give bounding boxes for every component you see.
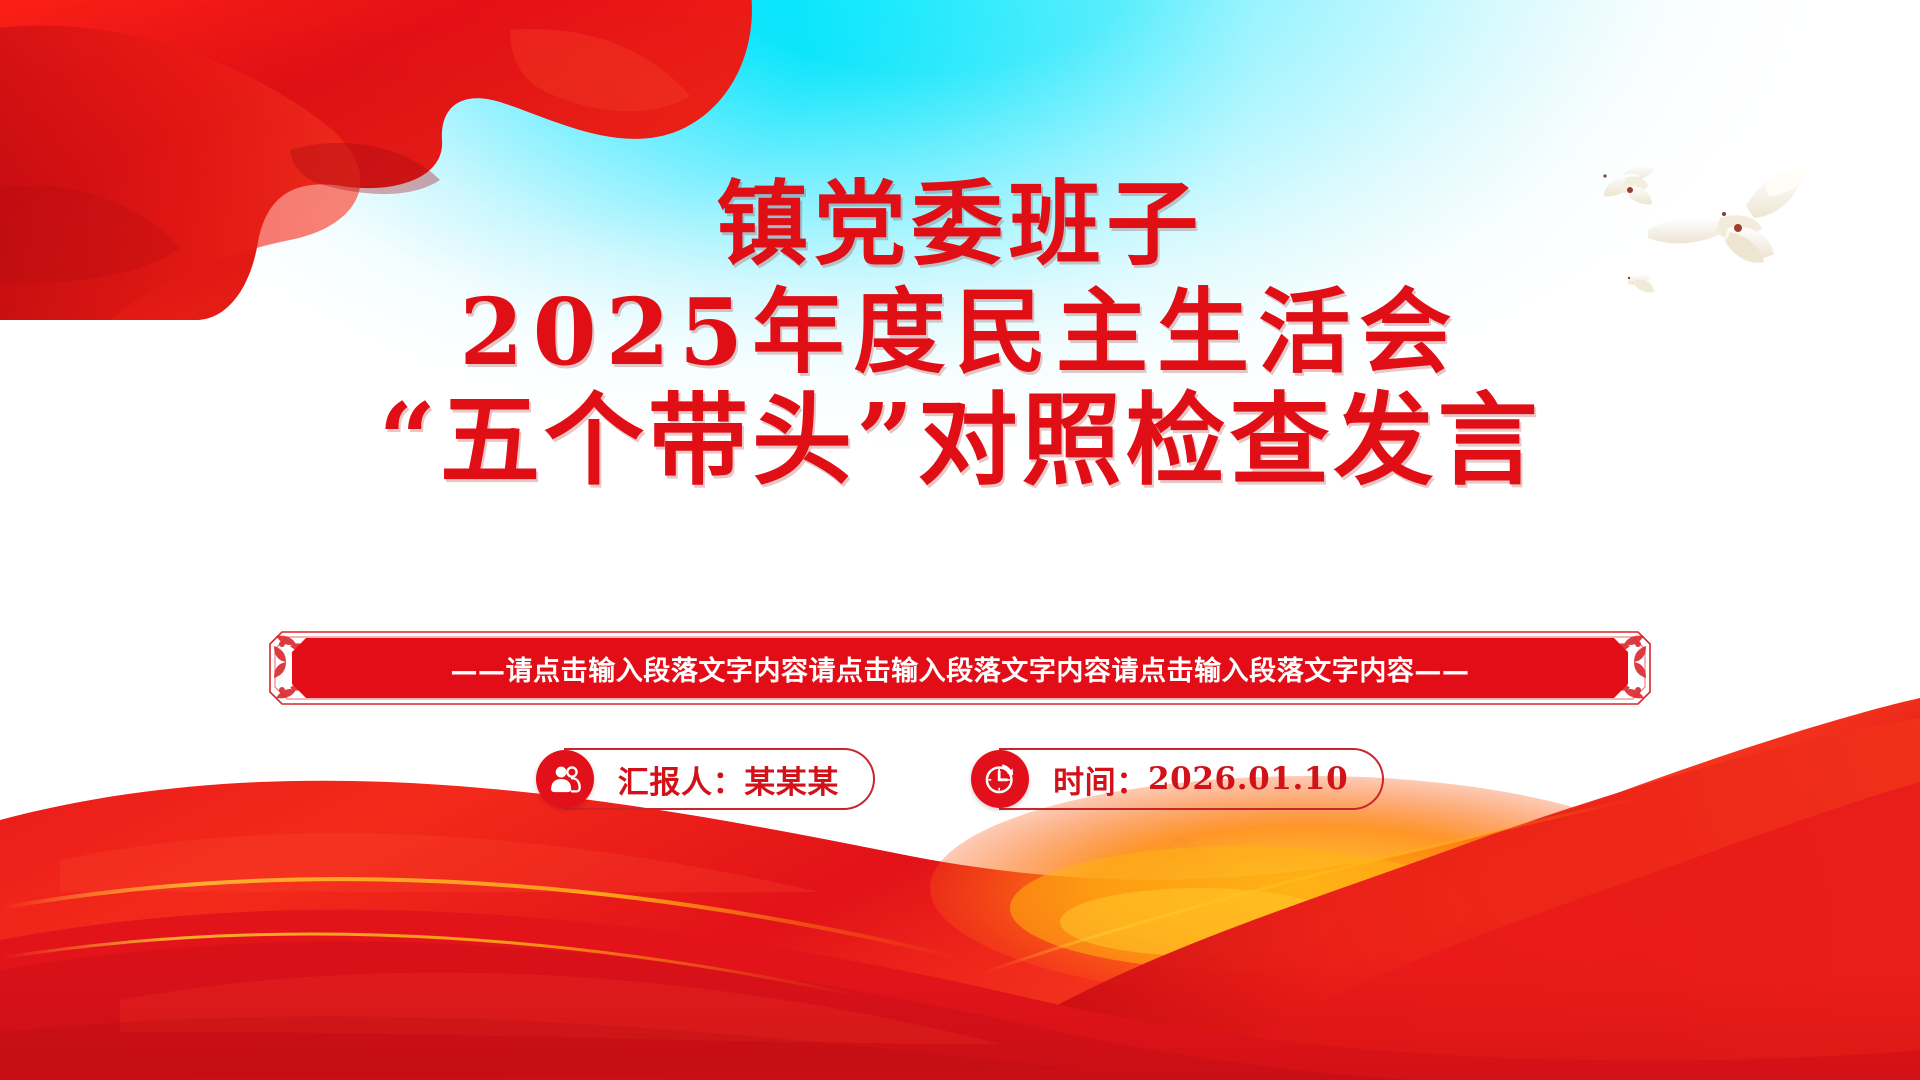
slide-canvas: 镇党委班子 2025年度民主生活会 “五个带头”对照检查发言 [0,0,1920,1080]
presenter-frame: 汇报人： 某某某 [564,748,875,810]
date-pill[interactable]: 时间： 2026.01.10 [971,742,1384,816]
presenter-pill[interactable]: 汇报人： 某某某 [536,742,875,816]
meta-pill-row: 汇报人： 某某某 时间： 2026.01.10 [0,742,1920,816]
title-line-2: 2025年度民主生活会 [0,284,1920,382]
presenter-value: 某某某 [744,757,839,802]
clock-icon [971,750,1029,808]
people-icon-glyph [548,762,582,796]
date-label: 时间： [1053,757,1148,802]
date-value: 2026.01.10 [1148,761,1348,797]
subtitle-banner[interactable]: ——请点击输入段落文字内容请点击输入段落文字内容请点击输入段落文字内容—— [268,630,1652,706]
red-silk-ribbon [0,640,1920,1080]
banner-text: ——请点击输入段落文字内容请点击输入段落文字内容请点击输入段落文字内容—— [451,649,1470,688]
clock-icon-glyph [982,761,1018,797]
date-frame: 时间： 2026.01.10 [999,748,1384,810]
title-block: 镇党委班子 2025年度民主生活会 “五个带头”对照检查发言 [0,176,1920,493]
presenter-label: 汇报人： [618,757,744,802]
banner-plate: ——请点击输入段落文字内容请点击输入段落文字内容请点击输入段落文字内容—— [292,638,1628,698]
title-line-3: “五个带头”对照检查发言 [0,387,1920,493]
people-icon [536,750,594,808]
title-line-1: 镇党委班子 [0,176,1920,274]
